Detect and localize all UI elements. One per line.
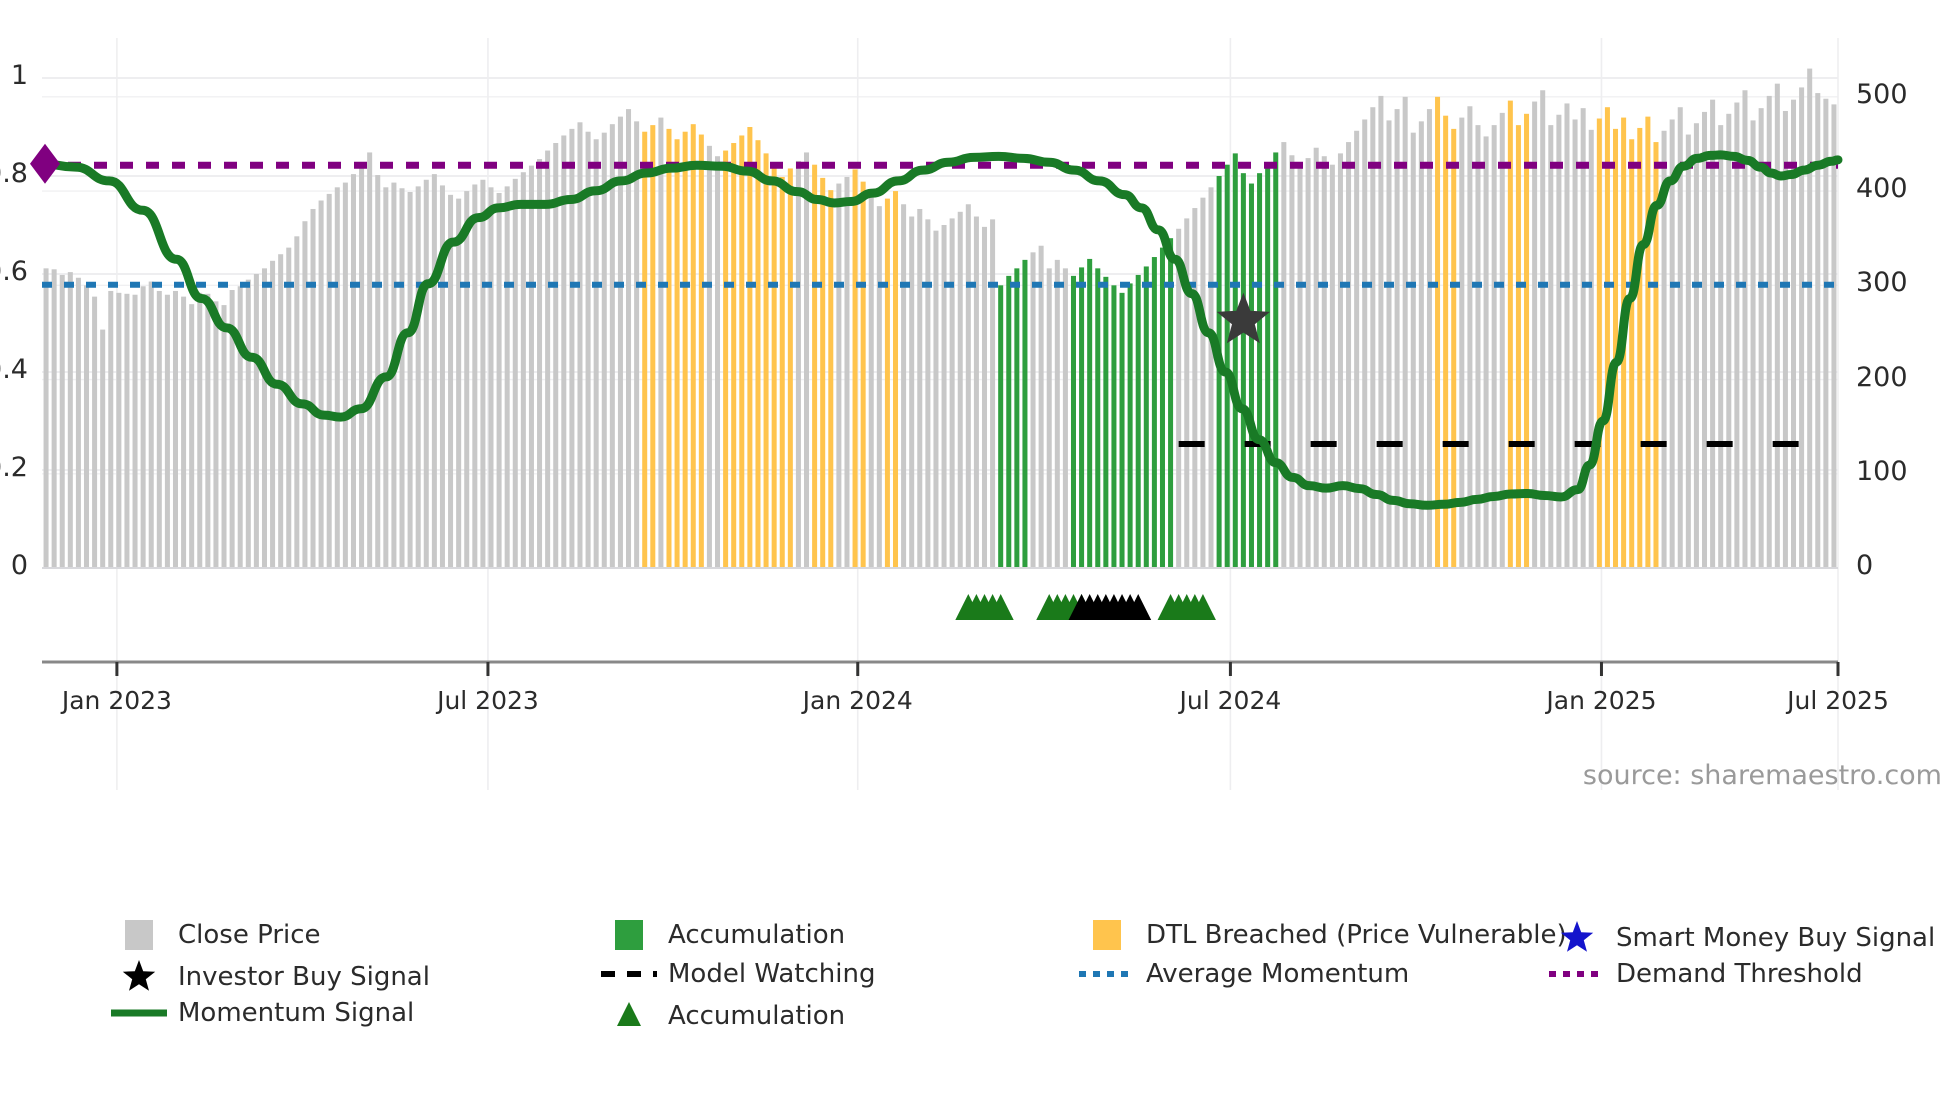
price-bar bbox=[222, 305, 227, 568]
price-bar bbox=[917, 209, 922, 568]
price-bar bbox=[133, 295, 138, 568]
price-bar bbox=[213, 301, 218, 568]
price-bar bbox=[367, 152, 372, 568]
legend-average-momentum[interactable]: Average Momentum bbox=[1078, 959, 1409, 989]
price-bar bbox=[464, 191, 469, 568]
price-bar bbox=[820, 178, 825, 568]
legend-label: Demand Threshold bbox=[1616, 959, 1863, 989]
x-axis-tick-label: Jan 2023 bbox=[62, 686, 172, 715]
price-bar bbox=[1111, 285, 1116, 568]
price-bar bbox=[189, 304, 194, 568]
price-bar bbox=[416, 186, 421, 568]
price-bar bbox=[1354, 131, 1359, 568]
legend-label: Average Momentum bbox=[1146, 959, 1409, 989]
legend-label: Smart Money Buy Signal bbox=[1616, 923, 1935, 953]
price-bar bbox=[747, 127, 752, 568]
price-bar bbox=[1039, 246, 1044, 568]
price-bar bbox=[1718, 125, 1723, 568]
price-bar bbox=[666, 129, 671, 568]
price-bar bbox=[764, 153, 769, 568]
price-bar bbox=[610, 124, 615, 568]
price-bar bbox=[812, 165, 817, 568]
price-bar bbox=[933, 231, 938, 568]
price-bar bbox=[545, 151, 550, 568]
y-axis-left-tick-label: 0.4 bbox=[0, 354, 28, 385]
price-bar bbox=[400, 188, 405, 568]
price-bar bbox=[1484, 136, 1489, 568]
price-bar bbox=[262, 268, 267, 568]
price-bar bbox=[302, 221, 307, 568]
price-bar bbox=[311, 209, 316, 568]
price-bar bbox=[238, 286, 243, 568]
price-bar bbox=[165, 295, 170, 568]
price-bar bbox=[1726, 114, 1731, 568]
price-bar bbox=[1637, 128, 1642, 568]
price-bar bbox=[1209, 187, 1214, 568]
price-bar bbox=[335, 187, 340, 568]
price-bar bbox=[68, 272, 73, 568]
price-bar bbox=[1516, 125, 1521, 568]
x-axis-tick-label: Jan 2024 bbox=[803, 686, 913, 715]
price-bar bbox=[715, 156, 720, 568]
price-bar bbox=[950, 218, 955, 568]
price-bar bbox=[699, 135, 704, 568]
price-bar bbox=[1314, 148, 1319, 568]
price-bar bbox=[52, 269, 57, 568]
y-axis-left-tick-label: 1 bbox=[11, 60, 28, 91]
legend-dashed-line-icon bbox=[600, 967, 658, 981]
price-bar bbox=[707, 146, 712, 568]
price-bar bbox=[1136, 275, 1141, 568]
legend-label: DTL Breached (Price Vulnerable) bbox=[1146, 920, 1567, 950]
price-bar bbox=[1589, 130, 1594, 568]
price-bar bbox=[1702, 112, 1707, 568]
price-bar bbox=[1759, 108, 1764, 568]
legend-label: Momentum Signal bbox=[178, 998, 414, 1028]
price-bar bbox=[343, 183, 348, 568]
price-bar bbox=[359, 165, 364, 568]
y-axis-left-tick-label: 0.6 bbox=[0, 256, 28, 287]
price-bar bbox=[375, 175, 380, 568]
legend-accumulation-triangle[interactable]: Accumulation bbox=[600, 998, 845, 1034]
price-bar bbox=[149, 282, 154, 568]
price-bar bbox=[1014, 268, 1019, 568]
price-bar bbox=[488, 187, 493, 568]
legend-star-icon bbox=[110, 959, 168, 995]
x-axis-tick-label: Jul 2024 bbox=[1180, 686, 1282, 715]
legend-triangle-icon bbox=[600, 998, 658, 1034]
legend-dotted-line-icon bbox=[1078, 967, 1136, 981]
price-bar bbox=[1710, 100, 1715, 568]
price-bar bbox=[925, 219, 930, 568]
legend-dtl-breached[interactable]: DTL Breached (Price Vulnerable) bbox=[1078, 920, 1567, 950]
price-bar bbox=[974, 217, 979, 568]
price-bar bbox=[1071, 276, 1076, 568]
price-bar bbox=[772, 165, 777, 568]
price-bar bbox=[141, 286, 146, 568]
y-axis-right-tick-label: 200 bbox=[1856, 362, 1908, 393]
price-bar bbox=[205, 294, 210, 568]
price-bar bbox=[909, 217, 914, 568]
price-bar bbox=[1799, 87, 1804, 568]
price-bar bbox=[594, 139, 599, 568]
price-bar bbox=[739, 135, 744, 568]
legend-label: Close Price bbox=[178, 920, 321, 950]
price-bar bbox=[1087, 259, 1092, 568]
legend-swatch-square-icon bbox=[1078, 920, 1136, 950]
price-bar bbox=[76, 278, 81, 568]
price-bar bbox=[853, 169, 858, 568]
legend-swatch-square-icon bbox=[600, 920, 658, 950]
price-bar bbox=[1645, 117, 1650, 568]
price-bar bbox=[1734, 103, 1739, 569]
price-bar bbox=[796, 161, 801, 568]
price-bar bbox=[1775, 84, 1780, 568]
price-bar bbox=[1807, 69, 1812, 568]
price-bar bbox=[173, 291, 178, 568]
price-bar bbox=[861, 182, 866, 568]
price-bar bbox=[537, 159, 542, 568]
price-bar bbox=[1298, 168, 1303, 568]
price-bar bbox=[1079, 267, 1084, 568]
legend-swatch-square-icon bbox=[110, 920, 168, 950]
price-bar bbox=[1548, 125, 1553, 568]
price-bar bbox=[108, 291, 113, 568]
price-bar bbox=[1573, 119, 1578, 568]
price-bar bbox=[658, 118, 663, 568]
price-bar bbox=[319, 201, 324, 569]
price-bar bbox=[1144, 266, 1149, 568]
price-bar bbox=[1629, 139, 1634, 568]
price-bar bbox=[513, 179, 518, 568]
legend-star-icon bbox=[1548, 920, 1606, 956]
price-bar bbox=[642, 132, 647, 568]
price-bar bbox=[869, 194, 874, 568]
price-bar bbox=[942, 225, 947, 568]
source-note: source: sharemaestro.com bbox=[1583, 760, 1942, 791]
price-bar bbox=[529, 166, 534, 568]
price-bar bbox=[1152, 257, 1157, 568]
price-bar bbox=[1694, 123, 1699, 568]
price-bar bbox=[650, 125, 655, 568]
x-axis-tick-label: Jan 2025 bbox=[1546, 686, 1656, 715]
price-bar bbox=[1289, 155, 1294, 568]
price-bar bbox=[1524, 114, 1529, 568]
legend-close-price[interactable]: Close Price bbox=[110, 920, 321, 950]
price-bar bbox=[351, 174, 356, 568]
price-bar bbox=[788, 168, 793, 568]
price-bar bbox=[731, 143, 736, 568]
price-bar bbox=[1233, 153, 1238, 568]
price-bar bbox=[1160, 248, 1165, 568]
price-bar bbox=[780, 177, 785, 568]
price-bar bbox=[254, 274, 259, 568]
price-bar bbox=[270, 261, 275, 568]
price-bar bbox=[1063, 268, 1068, 568]
price-bar bbox=[1128, 283, 1133, 568]
price-bar bbox=[1322, 156, 1327, 568]
price-bar bbox=[1265, 163, 1270, 568]
legend-smart-money-buy-signal[interactable]: Smart Money Buy Signal bbox=[1548, 920, 1935, 956]
legend-momentum-signal[interactable]: Momentum Signal bbox=[110, 998, 414, 1028]
price-bar bbox=[1249, 184, 1254, 568]
price-bar bbox=[92, 297, 97, 568]
y-axis-left-tick-label: 0 bbox=[11, 550, 28, 581]
price-bar bbox=[1670, 119, 1675, 568]
price-bar bbox=[998, 285, 1003, 568]
price-bar bbox=[683, 132, 688, 568]
price-bar bbox=[1120, 293, 1125, 568]
y-axis-right-tick-label: 500 bbox=[1856, 79, 1908, 110]
price-bar bbox=[1257, 173, 1262, 568]
price-bar bbox=[157, 291, 162, 568]
price-bar bbox=[804, 152, 809, 568]
price-bar bbox=[480, 180, 485, 568]
y-axis-left-tick-label: 0.8 bbox=[0, 158, 28, 189]
price-bar bbox=[885, 199, 890, 568]
price-bar bbox=[408, 192, 413, 568]
price-bar bbox=[691, 124, 696, 568]
price-bar bbox=[877, 206, 882, 568]
price-bar bbox=[675, 139, 680, 568]
price-bar bbox=[1200, 198, 1205, 568]
price-bar bbox=[286, 248, 291, 568]
legend-label: Investor Buy Signal bbox=[178, 962, 430, 992]
price-bar bbox=[1055, 260, 1060, 568]
price-bar bbox=[836, 184, 841, 568]
price-bar bbox=[124, 294, 129, 568]
price-bar bbox=[1605, 107, 1610, 568]
price-bar bbox=[755, 140, 760, 568]
price-bar bbox=[181, 297, 186, 568]
legend-label: Accumulation bbox=[668, 920, 845, 950]
price-bar bbox=[723, 151, 728, 568]
legend-model-watching[interactable]: Model Watching bbox=[600, 959, 875, 989]
legend-investor-buy-signal[interactable]: Investor Buy Signal bbox=[110, 959, 430, 995]
price-bar bbox=[1581, 108, 1586, 568]
legend-solid-line-icon bbox=[110, 1006, 168, 1020]
price-bar bbox=[278, 254, 283, 568]
y-axis-right-tick-label: 400 bbox=[1856, 173, 1908, 204]
price-bar bbox=[246, 280, 251, 568]
legend-label: Model Watching bbox=[668, 959, 875, 989]
price-bar bbox=[1225, 165, 1230, 568]
price-bar bbox=[1306, 158, 1311, 568]
price-bar bbox=[1281, 142, 1286, 568]
price-bar bbox=[1273, 152, 1278, 568]
price-bar bbox=[84, 285, 89, 568]
legend-swatch-square-icon bbox=[125, 920, 153, 950]
legend-accumulation-bar[interactable]: Accumulation bbox=[600, 920, 845, 950]
price-bar bbox=[577, 122, 582, 568]
price-bar bbox=[1427, 109, 1432, 568]
price-bar bbox=[1022, 260, 1027, 568]
price-bar bbox=[1338, 153, 1343, 568]
price-bar bbox=[472, 184, 477, 568]
price-bar bbox=[1686, 135, 1691, 568]
y-axis-right-tick-label: 100 bbox=[1856, 456, 1908, 487]
price-bar bbox=[44, 268, 49, 568]
price-bar bbox=[958, 212, 963, 568]
price-bar bbox=[1346, 142, 1351, 568]
price-bar bbox=[1597, 119, 1602, 568]
price-bar bbox=[1330, 165, 1335, 568]
legend-swatch-square-icon bbox=[1093, 920, 1121, 950]
price-bar bbox=[1831, 104, 1836, 568]
price-bar bbox=[1047, 268, 1052, 568]
x-axis-tick-label: Jul 2025 bbox=[1787, 686, 1889, 715]
legend-demand-threshold[interactable]: Demand Threshold bbox=[1548, 959, 1863, 989]
y-axis-right-tick-label: 300 bbox=[1856, 267, 1908, 298]
price-bar bbox=[60, 275, 65, 568]
price-bar bbox=[1435, 97, 1440, 568]
price-bar bbox=[432, 174, 437, 568]
y-axis-left-tick-label: 0.2 bbox=[0, 452, 28, 483]
price-bar bbox=[990, 219, 995, 568]
price-bar bbox=[505, 186, 510, 568]
price-bar bbox=[1192, 208, 1197, 568]
price-bar bbox=[602, 133, 607, 568]
price-bar bbox=[1492, 125, 1497, 568]
price-bar bbox=[1006, 276, 1011, 568]
price-bar bbox=[966, 204, 971, 568]
price-bar bbox=[1031, 252, 1036, 568]
legend-label: Accumulation bbox=[668, 1001, 845, 1031]
legend-dotted-line-icon bbox=[1548, 967, 1606, 981]
momentum-start-diamond-marker bbox=[30, 144, 60, 184]
price-bar bbox=[116, 293, 121, 568]
price-bar bbox=[497, 193, 502, 568]
x-axis-tick-label: Jul 2023 bbox=[437, 686, 539, 715]
y-axis-right-tick-label: 0 bbox=[1856, 550, 1873, 581]
price-bar bbox=[1751, 120, 1756, 568]
price-bar bbox=[893, 191, 898, 568]
price-bar bbox=[521, 172, 526, 568]
price-bar bbox=[982, 227, 987, 568]
price-bar bbox=[1823, 99, 1828, 568]
price-bar bbox=[634, 121, 639, 568]
price-bar bbox=[1362, 119, 1367, 568]
price-bar bbox=[1095, 268, 1100, 568]
price-bar bbox=[1103, 277, 1108, 568]
price-bar bbox=[456, 199, 461, 568]
price-bar bbox=[844, 177, 849, 568]
price-bar bbox=[197, 293, 202, 568]
price-bar bbox=[100, 330, 105, 568]
legend-swatch-square-icon bbox=[615, 920, 643, 950]
price-bar bbox=[1241, 173, 1246, 568]
price-bar bbox=[327, 194, 332, 568]
price-bar bbox=[424, 180, 429, 568]
price-bar bbox=[828, 190, 833, 568]
price-bar bbox=[901, 204, 906, 568]
